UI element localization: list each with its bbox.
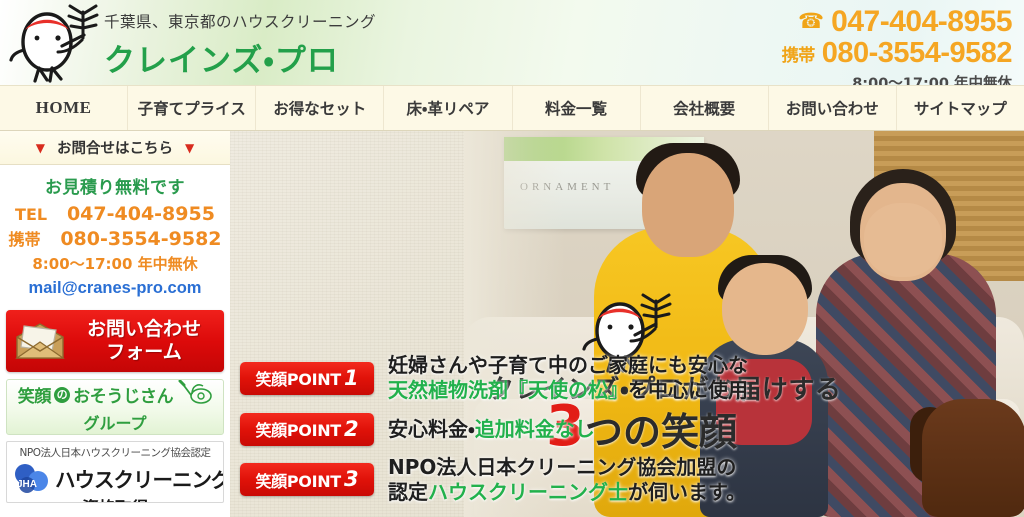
smile-point-3-line1: NPO法人日本クリーニング協会加盟の (388, 455, 746, 480)
nav-otokuna-set[interactable]: お得なセット (256, 86, 384, 130)
certification-main-row: JHA ハウスクリーニング士 (11, 461, 219, 495)
svg-text:JHA: JHA (17, 479, 37, 490)
certification-title: ハウスクリーニング士 (55, 463, 224, 493)
telephone-icon: ☎ (798, 11, 824, 32)
sidebar-tel-row[interactable]: TEL 047-404-8955 (0, 202, 230, 227)
smile-point-2-badge-label: 笑顔POINT (255, 417, 341, 441)
smile-point-2-badge[interactable]: 笑顔POINT 2 (240, 413, 374, 446)
smile-point-1-line2-rest: を中心に使用 (628, 378, 748, 402)
nav-ryokin-ichiran[interactable]: 料金一覧 (513, 86, 641, 130)
smile-point-3-plain-a: 認定 (388, 480, 428, 504)
smile-point-1-line1: 妊婦さんや子育て中のご家庭にも安心な (388, 353, 748, 378)
sidebar-tel-label: TEL (15, 205, 47, 224)
smile-point-1-line2-green: 天然植物洗剤『天使の松』 (388, 378, 628, 402)
smile-point-3-badge-number: 3 (344, 469, 359, 490)
smile-point-2-badge-number: 2 (344, 419, 359, 440)
smile-point-1-line2: 天然植物洗剤『天使の松』を中心に使用 (388, 378, 748, 403)
header-mobile-number: 080-3554-9582 (822, 38, 1012, 69)
nav-otoiawase[interactable]: お問い合わせ (769, 86, 897, 130)
certification-subtitle: 資格取得 (11, 494, 219, 503)
smile-point-1-badge[interactable]: 笑顔POINT 1 (240, 362, 374, 395)
header-mobile-row[interactable]: 携帯 080-3554-9582 (782, 38, 1012, 69)
smile-point-1: 笑顔POINT 1 妊婦さんや子育て中のご家庭にも安心な 天然植物洗剤『天使の松… (240, 353, 1024, 403)
inquiry-form-line1: お問い合わせ (72, 318, 216, 341)
header-mobile-label: 携帯 (782, 41, 815, 66)
inquiry-form-button[interactable]: お問い合わせ フォーム (6, 310, 224, 372)
group-circle-no: の (54, 387, 70, 403)
group-banner-line1: 笑顔 の おそうじさん (18, 380, 213, 409)
triangle-down-icon-left: ▼ (36, 142, 45, 154)
smile-point-3: 笑顔POINT 3 NPO法人日本クリーニング協会加盟の 認定ハウスクリーニング… (240, 455, 1024, 505)
nav-kaisha-gaiyo[interactable]: 会社概要 (641, 86, 769, 130)
sidebar-tel-number: 047-404-8955 (67, 203, 215, 225)
hero-section: ORNAMENT (230, 131, 1024, 517)
sidebar-contact-details: お見積り無料です TEL 047-404-8955 携帯 080-3554-95… (0, 165, 230, 304)
header-contact-block: ☎ 047-404-8955 携帯 080-3554-9582 8:00〜17:… (782, 6, 1012, 85)
sidebar-mobile-row[interactable]: 携帯 080-3554-9582 (0, 227, 230, 252)
certification-top-text: NPO法人日本ハウスクリーニング協会認定 (11, 445, 219, 460)
logo-company-name: クレインズ・プロ (104, 35, 376, 80)
group-word-osoujisan: おそうじさん (73, 382, 173, 407)
page-root: 千葉県、東京都のハウスクリーニング クレインズ・プロ ☎ 047-404-895… (0, 0, 1024, 517)
nav-kosodate-price[interactable]: 子育てプライス (128, 86, 256, 130)
inquiry-form-label: お問い合わせ フォーム (72, 318, 216, 364)
smile-point-3-text: NPO法人日本クリーニング協会加盟の 認定ハウスクリーニング士が伺います。 (388, 455, 746, 505)
header-tel-row[interactable]: ☎ 047-404-8955 (782, 6, 1012, 38)
site-header: 千葉県、東京都のハウスクリーニング クレインズ・プロ ☎ 047-404-895… (0, 0, 1024, 85)
group-banner-line2: グループ (83, 410, 146, 434)
jha-logo-icon: JHA (11, 461, 53, 495)
vacuum-cleaner-icon (178, 380, 212, 409)
inquiry-form-line2: フォーム (72, 341, 216, 364)
left-sidebar: ▼ お問合せはこちら ▼ お見積り無料です TEL 047-404-8955 携… (0, 131, 230, 517)
header-tel-number: 047-404-8955 (831, 6, 1012, 38)
sidebar-email-link[interactable]: mail@cranes-pro.com (0, 279, 230, 298)
sidebar-business-hours: 8:00〜17:00 年中無休 (0, 253, 230, 274)
smile-point-1-badge-number: 1 (344, 368, 359, 389)
hero-content: クレインズ・プロがお届けする 3 つの笑顔 笑顔POINT 1 妊婦さんや子育て… (230, 131, 1024, 517)
smile-point-3-badge-label: 笑顔POINT (255, 468, 341, 492)
envelope-icon (14, 321, 66, 361)
group-word-egao: 笑顔 (18, 382, 51, 407)
certification-banner[interactable]: NPO法人日本ハウスクリーニング協会認定 JHA ハウスクリーニング士 資格取得 (6, 441, 224, 503)
smile-point-2-text: 安心料金・追加料金なし (388, 417, 595, 442)
smile-point-1-badge-label: 笑顔POINT (255, 366, 341, 390)
header-business-hours: 8:00〜17:00 年中無休 (782, 72, 1012, 85)
smile-point-3-plain-b: が伺います。 (628, 480, 746, 504)
logo-tagline: 千葉県、東京都のハウスクリーニング (104, 10, 376, 32)
sidebar-mobile-number: 080-3554-9582 (60, 228, 221, 250)
sidebar-mobile-label: 携帯 (8, 230, 40, 249)
sidebar-contact-heading: ▼ お問合せはこちら ▼ (0, 131, 230, 165)
nav-home[interactable]: HOME (0, 86, 128, 130)
nav-sitemap[interactable]: サイトマップ (897, 86, 1024, 130)
smile-points-list: 笑顔POINT 1 妊婦さんや子育て中のご家庭にも安心な 天然植物洗剤『天使の松… (240, 353, 1024, 505)
group-banner[interactable]: 笑顔 の おそうじさん グループ (6, 379, 224, 435)
logo-text-block[interactable]: 千葉県、東京都のハウスクリーニング クレインズ・プロ (104, 10, 376, 80)
smile-point-1-text: 妊婦さんや子育て中のご家庭にも安心な 天然植物洗剤『天使の松』を中心に使用 (388, 353, 748, 403)
page-body: ▼ お問合せはこちら ▼ お見積り無料です TEL 047-404-8955 携… (0, 131, 1024, 517)
smile-point-3-badge[interactable]: 笑顔POINT 3 (240, 463, 374, 496)
main-navigation: HOME 子育てプライス お得なセット 床・革リペア 料金一覧 会社概要 お問い… (0, 85, 1024, 131)
nav-yuka-kawa-repair[interactable]: 床・革リペア (384, 86, 512, 130)
smile-point-3-green: ハウスクリーニング士 (428, 480, 628, 504)
smile-point-2-plain: 安心料金・ (388, 417, 475, 441)
sidebar-heading-label: お問合せはこちら (57, 137, 173, 158)
smile-point-2-green: 追加料金なし (475, 417, 595, 441)
crane-bird-mascot-icon (6, 2, 102, 84)
free-estimate-text: お見積り無料です (0, 173, 230, 198)
triangle-down-icon-right: ▼ (185, 142, 194, 154)
smile-point-3-line2: 認定ハウスクリーニング士が伺います。 (388, 480, 746, 505)
smile-point-2: 笑顔POINT 2 安心料金・追加料金なし (240, 413, 1024, 446)
